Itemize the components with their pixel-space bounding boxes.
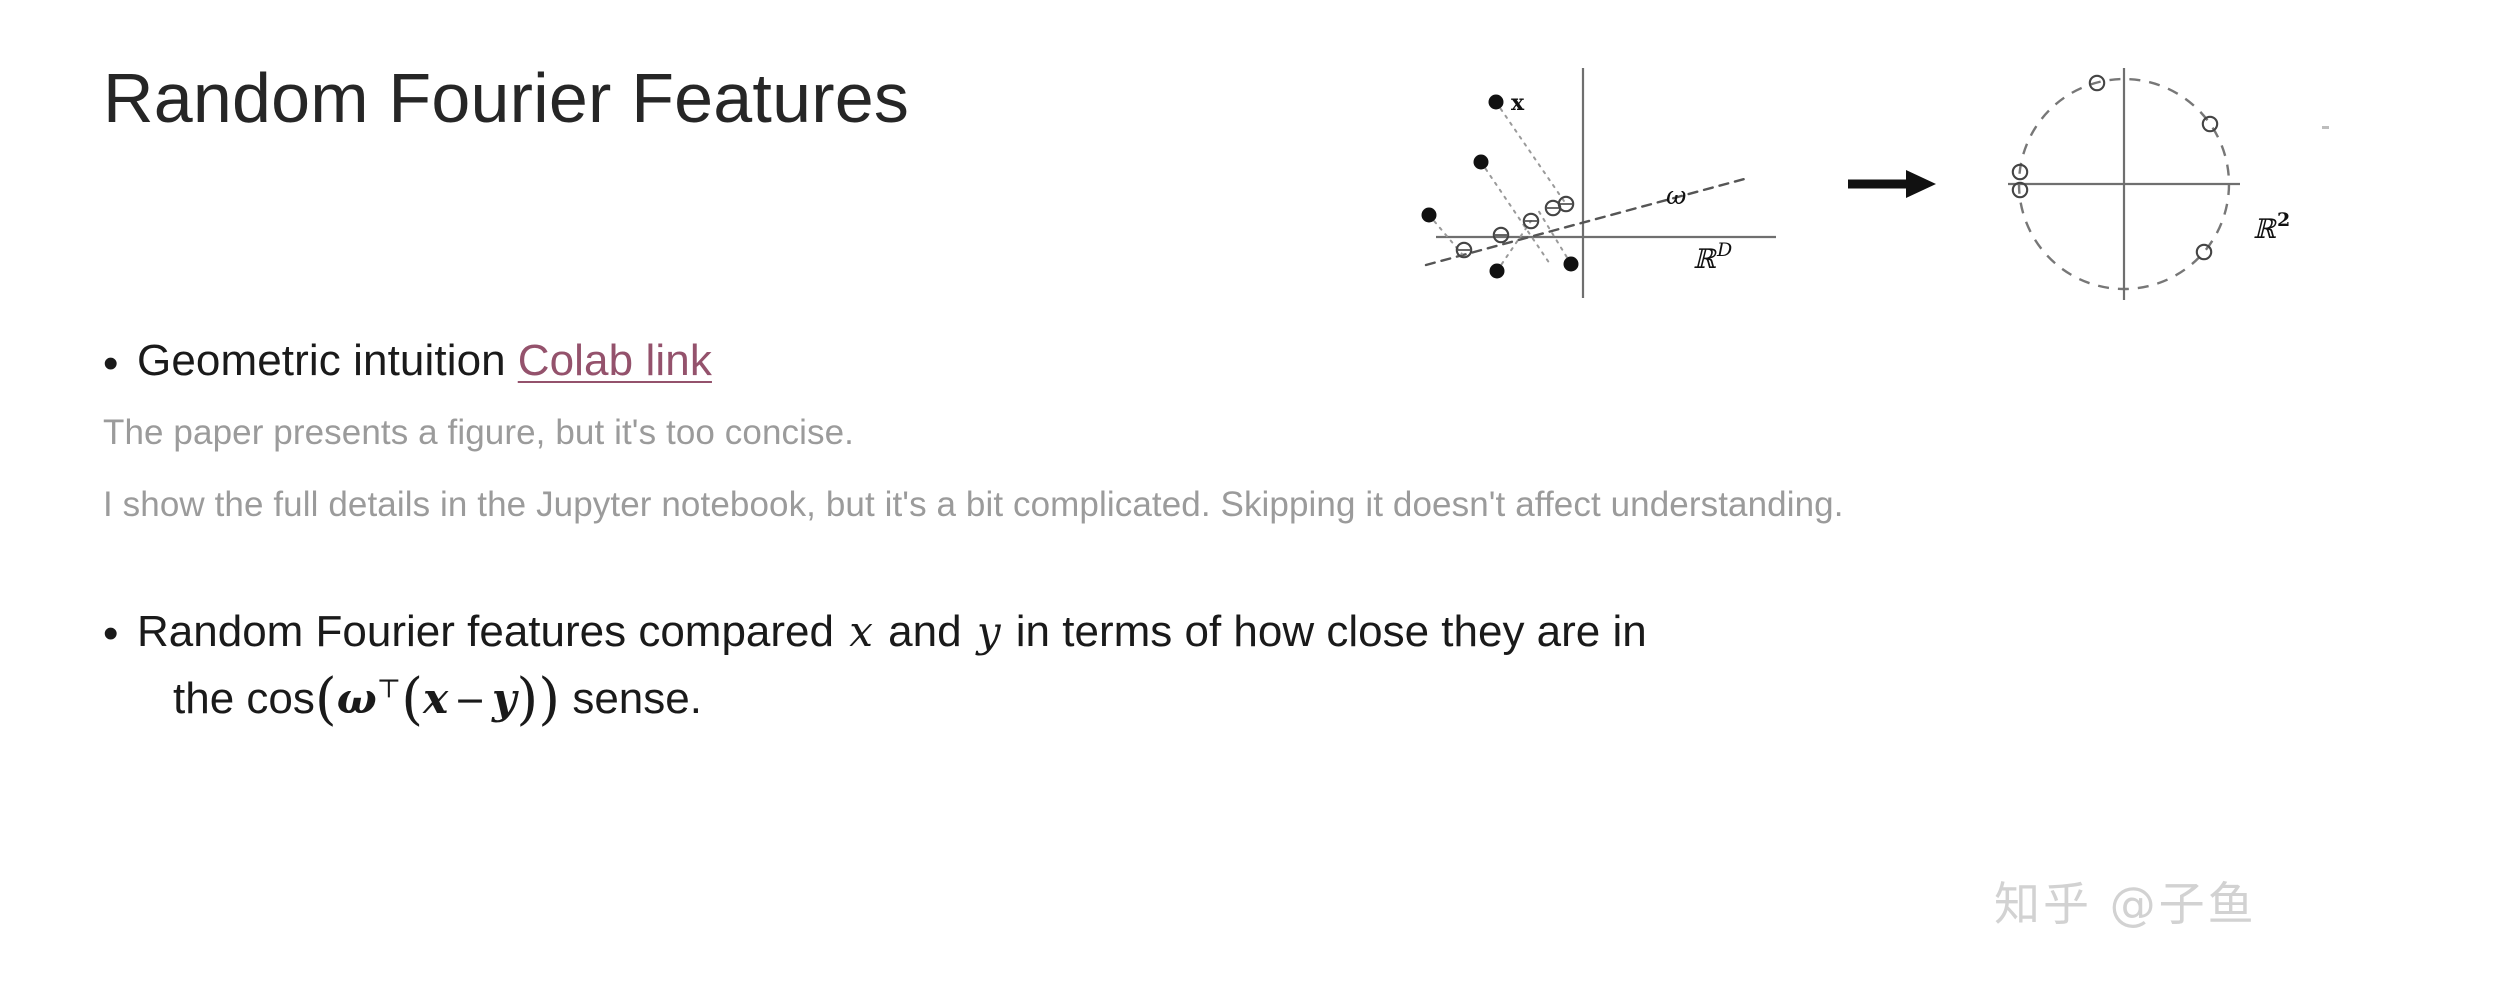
bullet-2-connector: and <box>888 607 961 656</box>
formula-inner-open-paren: ( <box>401 667 423 732</box>
data-point <box>1564 257 1579 272</box>
formula-transpose: ⊤ <box>377 675 401 705</box>
formula-omega: ω <box>337 674 377 723</box>
colab-link[interactable]: Colab link <box>518 336 712 385</box>
rff-projection-figure: x ω ℝ D <box>1398 58 2458 310</box>
bullet-2-part-1: Random Fourier features compared <box>137 607 834 656</box>
left-panel: x ω ℝ D <box>1422 68 1777 298</box>
formula-close-paren: ) <box>538 667 560 732</box>
bullet-1-label: Geometric intuition <box>137 336 506 385</box>
data-point <box>1474 155 1489 170</box>
page-title: Random Fourier Features <box>103 62 909 136</box>
bullet-2-line-1: Random Fourier features compared x and y… <box>137 606 1647 658</box>
projection-lines <box>1429 102 1571 271</box>
bullet-2-line-2: the cos(ω⊤(x−y)) sense. <box>137 662 1647 728</box>
data-point <box>1490 264 1505 279</box>
zhihu-watermark: 知乎 @子鱼 <box>1994 868 2257 934</box>
bullet-2-line2-suffix: sense. <box>572 674 702 723</box>
bullet-marker-icon <box>103 606 137 656</box>
formula-minus: − <box>448 678 492 722</box>
bullet-marker-icon <box>103 336 137 386</box>
formula-fn: cos <box>246 674 314 723</box>
bullet-2-part-2: in terms of how close they are in <box>1016 607 1647 656</box>
right-panel: ℝ 2 <box>2008 68 2329 300</box>
formula-x: x <box>423 674 448 723</box>
right-panel-space-exponent: 2 <box>2277 209 2290 231</box>
left-panel-space-label: ℝ <box>1693 244 1717 275</box>
formula-open-paren: ( <box>315 667 337 732</box>
circle-point <box>2203 117 2217 131</box>
bullet-2-content: Random Fourier features compared x and y… <box>137 606 1647 728</box>
note-line-2: I show the full details in the Jupyter n… <box>103 482 2403 528</box>
left-panel-space-exponent: D <box>1716 239 1732 261</box>
bullet-2-line2-prefix: the <box>173 674 234 723</box>
point-label-x: x <box>1511 90 1525 116</box>
circle-point <box>2197 245 2211 259</box>
formula-cos-omega-transpose: cos(ω⊤(x−y)) <box>246 674 560 723</box>
transform-arrow-icon <box>1848 170 1936 198</box>
formula-inner-close-paren: ) <box>516 667 538 732</box>
math-var-x: x <box>846 607 876 656</box>
data-point-x <box>1489 95 1504 110</box>
rff-projection-figure-svg: x ω ℝ D <box>1398 58 2458 310</box>
stray-mark <box>2322 126 2329 129</box>
math-var-y: y <box>974 607 1004 656</box>
data-point <box>1422 208 1437 223</box>
note-line-1: The paper presents a figure, but it's to… <box>103 410 2403 456</box>
projected-points-open <box>1457 197 1573 257</box>
bullet-item-rff-comparison: Random Fourier features compared x and y… <box>103 606 2403 728</box>
slide-canvas: Random Fourier Features Geometric intuit… <box>0 0 2503 1007</box>
bullet-item-geometric-intuition: Geometric intuitionColab link <box>103 336 2403 386</box>
circle-points-open <box>2013 76 2217 259</box>
formula-y: y <box>492 674 516 723</box>
slide-body: Geometric intuitionColab link The paper … <box>103 336 2403 728</box>
right-panel-space-label: ℝ <box>2253 214 2277 245</box>
omega-label: ω <box>1666 181 1686 210</box>
bullet-1-content: Geometric intuitionColab link <box>137 336 712 385</box>
